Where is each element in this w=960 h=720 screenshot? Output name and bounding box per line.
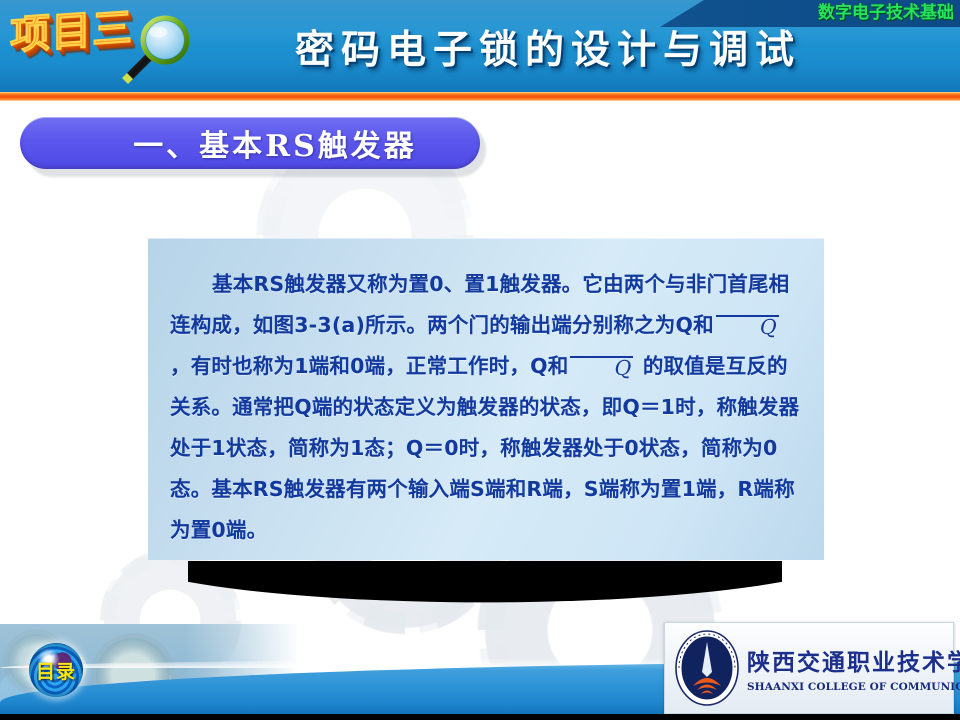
section-heading-pill[interactable]: 一、基本RS触发器 bbox=[20, 117, 480, 169]
course-name-label: 数字电子技术基础 bbox=[818, 2, 954, 25]
school-name-en: SHAANXI COLLEGE OF COMMUNICATION TECHNOL… bbox=[747, 681, 960, 693]
content-textbox: 基本RS触发器又称为置0、置1触发器。它由两个与非门首尾相连构成，如图3-3(a… bbox=[148, 238, 824, 560]
footer-black-strip bbox=[0, 714, 960, 720]
q-overbar-1: Q bbox=[716, 315, 779, 339]
toc-button[interactable]: 目录 bbox=[29, 643, 83, 697]
content-paragraph: 基本RS触发器又称为置0、置1触发器。它由两个与非门首尾相连构成，如图3-3(a… bbox=[148, 238, 824, 551]
section-heading-label: 一、基本RS触发器 bbox=[83, 121, 417, 165]
paragraph-segment-2: ，有时也称为1端和0端，正常工作时，Q和 bbox=[170, 354, 568, 378]
decorative-black-arc bbox=[188, 561, 782, 605]
slide-header: 项目三 bbox=[0, 0, 960, 92]
paragraph-segment-3: 的取值是互反的关系。通常把Q端的状态定义为触发器的状态，即Q＝1时，称触发器处于… bbox=[170, 354, 799, 542]
school-logo: 陕西交通职业技术学院 SHAANXI COLLEGE OF COMMUNICAT… bbox=[664, 622, 954, 714]
paragraph-segment-1: 基本RS触发器又称为置0、置1触发器。它由两个与非门首尾相连构成，如图3-3(a… bbox=[170, 272, 789, 337]
magnifier-icon bbox=[118, 14, 196, 86]
school-emblem-icon bbox=[671, 628, 743, 708]
school-logo-texts: 陕西交通职业技术学院 SHAANXI COLLEGE OF COMMUNICAT… bbox=[747, 643, 960, 693]
project-badge-label: 项目三 bbox=[10, 6, 133, 59]
slide: 项目三 bbox=[0, 0, 960, 720]
q-overbar-2: Q bbox=[570, 356, 633, 380]
toc-button-label: 目录 bbox=[36, 657, 76, 684]
orange-divider bbox=[0, 92, 960, 101]
school-name-cn: 陕西交通职业技术学院 bbox=[747, 643, 960, 677]
